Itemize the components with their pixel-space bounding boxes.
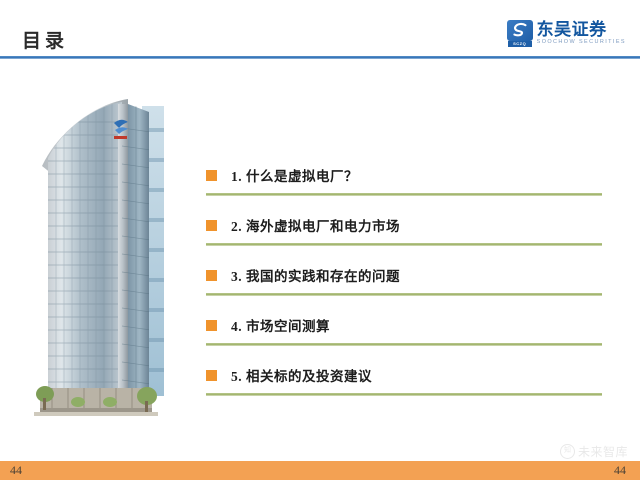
orange-square-bullet-icon [206, 220, 217, 231]
toc-separator [206, 243, 602, 246]
toc-item-label: 2. 海外虚拟电厂和电力市场 [231, 215, 400, 235]
toc-item-label: 4. 市场空间测算 [231, 315, 330, 335]
orange-square-bullet-icon [206, 320, 217, 331]
logo-swoosh-icon [511, 22, 529, 39]
toc-separator [206, 343, 602, 346]
slide-footer: 44 44 [0, 461, 640, 480]
page-number-left: 44 [10, 463, 22, 478]
page-title: 目录 [22, 26, 68, 53]
toc-item-4[interactable]: 4. 市场空间测算 [206, 305, 606, 355]
headquarters-building-photo [18, 88, 186, 440]
table-of-contents: 1. 什么是虚拟电厂？ 2. 海外虚拟电厂和电力市场 3. 我国的实践和存在的问… [206, 155, 606, 405]
orange-square-bullet-icon [206, 170, 217, 181]
orange-square-bullet-icon [206, 370, 217, 381]
toc-separator [206, 193, 602, 196]
toc-item-1[interactable]: 1. 什么是虚拟电厂？ [206, 155, 606, 205]
toc-separator [206, 393, 602, 396]
orange-square-bullet-icon [206, 270, 217, 281]
logo-subtext: SCZQ [508, 41, 532, 47]
toc-item-label: 5. 相关标的及投资建议 [231, 365, 372, 385]
brand-name-cn: 东吴证券 [537, 21, 626, 38]
toc-item-2[interactable]: 2. 海外虚拟电厂和电力市场 [206, 205, 606, 255]
building-illustration [18, 88, 186, 440]
brand-logo: SCZQ 东吴证券 SOOCHOW SECURITIES [507, 18, 626, 48]
soochow-logo-icon: SCZQ [507, 20, 533, 46]
toc-separator [206, 293, 602, 296]
slide-header: 目录 SCZQ 东吴证券 SOOCHOW SECURITIES [0, 0, 640, 60]
watermark-avatar-icon: 知 [560, 444, 575, 459]
watermark: 知 未来智库 [560, 443, 628, 460]
toc-item-5[interactable]: 5. 相关标的及投资建议 [206, 355, 606, 405]
brand-name-en: SOOCHOW SECURITIES [537, 40, 626, 46]
slide-root: 目录 SCZQ 东吴证券 SOOCHOW SECURITIES [0, 0, 640, 480]
rooftop-logo-icon [114, 120, 128, 139]
header-divider [0, 56, 640, 59]
toc-item-label: 3. 我国的实践和存在的问题 [231, 265, 400, 285]
watermark-text: 未来智库 [578, 443, 628, 460]
brand-wordmark: 东吴证券 SOOCHOW SECURITIES [537, 21, 626, 46]
toc-item-3[interactable]: 3. 我国的实践和存在的问题 [206, 255, 606, 305]
toc-item-label: 1. 什么是虚拟电厂？ [231, 165, 358, 185]
page-number-right: 44 [614, 463, 626, 478]
